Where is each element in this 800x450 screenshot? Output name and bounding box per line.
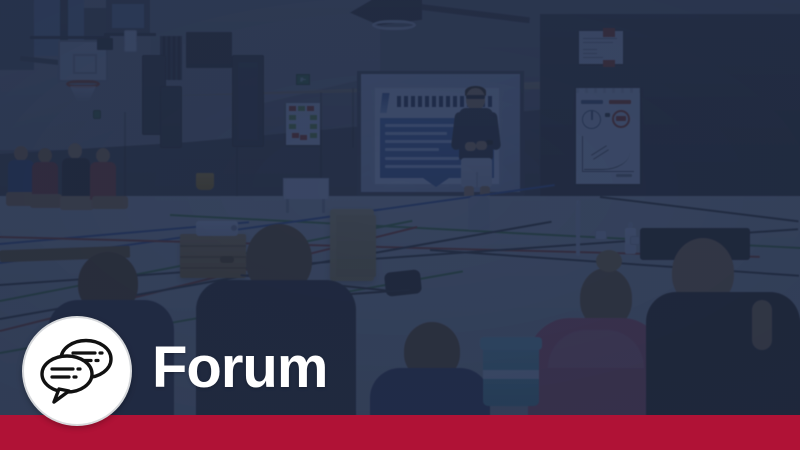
accent-bar bbox=[0, 415, 800, 450]
forum-banner: Forum bbox=[0, 0, 800, 450]
forum-logo-badge bbox=[22, 316, 132, 426]
page-title: Forum bbox=[152, 339, 327, 397]
speech-bubbles-icon bbox=[39, 338, 115, 404]
